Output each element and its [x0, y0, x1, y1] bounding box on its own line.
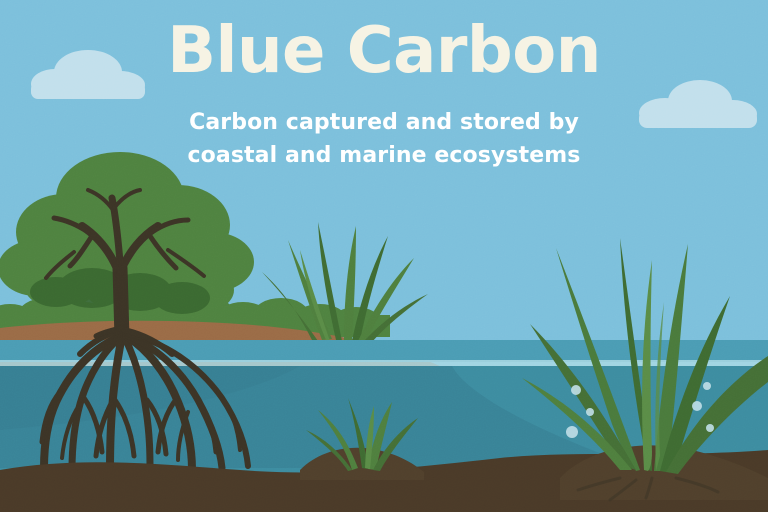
grain-overlay [0, 0, 768, 512]
blue-carbon-illustration: Blue Carbon Carbon captured and stored b… [0, 0, 768, 512]
scene-svg [0, 0, 768, 512]
